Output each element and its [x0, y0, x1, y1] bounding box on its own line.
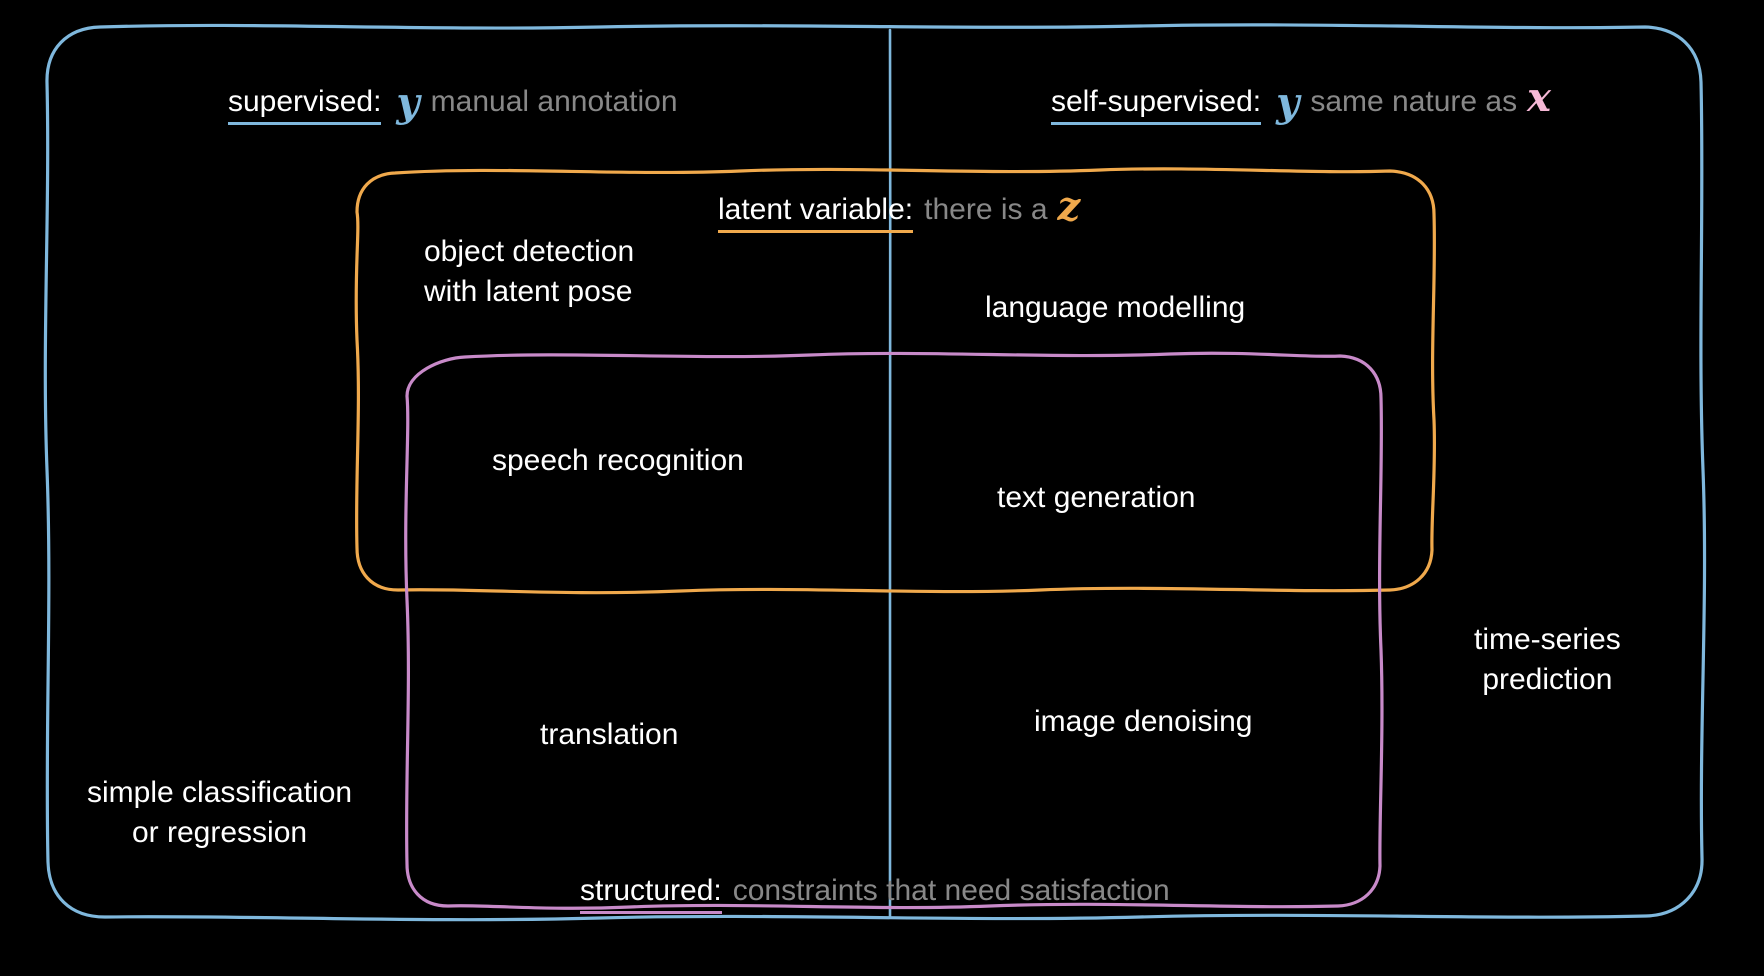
- header-supervised-key: supervised:: [228, 84, 381, 125]
- item-simple-classification-line1: simple classification: [87, 773, 352, 813]
- item-translation: translation: [540, 717, 678, 752]
- item-image-denoising: image denoising: [1034, 704, 1252, 739]
- item-language-modelling: language modelling: [985, 290, 1245, 325]
- item-simple-classification: simple classification or regression: [87, 773, 352, 852]
- item-object-detection-line2: with latent pose: [424, 272, 634, 312]
- header-structured-desc: constraints that need satisfaction: [733, 873, 1170, 908]
- header-supervised: supervised: y manual annotation: [228, 84, 678, 125]
- structured-region-outline: [406, 353, 1382, 908]
- header-self-supervised-desc: same nature as: [1310, 84, 1517, 119]
- header-latent-variable-key: latent variable:: [718, 192, 913, 233]
- header-self-supervised: self-supervised: y same nature as x: [1051, 84, 1551, 125]
- item-image-denoising-line1: image denoising: [1034, 704, 1252, 739]
- item-language-modelling-line1: language modelling: [985, 290, 1245, 325]
- item-time-series-prediction: time-series prediction: [1474, 620, 1621, 699]
- diagram-canvas: supervised: y manual annotation self-sup…: [0, 0, 1764, 976]
- item-time-series-prediction-line2: prediction: [1474, 660, 1621, 700]
- item-speech-recognition: speech recognition: [492, 443, 744, 478]
- item-time-series-prediction-line1: time-series: [1474, 620, 1621, 660]
- item-object-detection-line1: object detection: [424, 232, 634, 272]
- header-structured-key: structured:: [580, 873, 722, 914]
- item-object-detection: object detection with latent pose: [424, 232, 634, 311]
- header-latent-variable: latent variable: there is a z: [718, 192, 1080, 233]
- supervised-divider-line: [890, 30, 891, 916]
- header-structured: structured: constraints that need satisf…: [580, 873, 1170, 914]
- item-simple-classification-line2: or regression: [87, 813, 352, 853]
- header-self-supervised-key: self-supervised:: [1051, 84, 1261, 125]
- item-text-generation-line1: text generation: [997, 480, 1195, 515]
- item-translation-line1: translation: [540, 717, 678, 752]
- item-speech-recognition-line1: speech recognition: [492, 443, 744, 478]
- header-latent-variable-desc: there is a: [924, 192, 1047, 227]
- item-text-generation: text generation: [997, 480, 1195, 515]
- header-supervised-desc: manual annotation: [431, 84, 678, 119]
